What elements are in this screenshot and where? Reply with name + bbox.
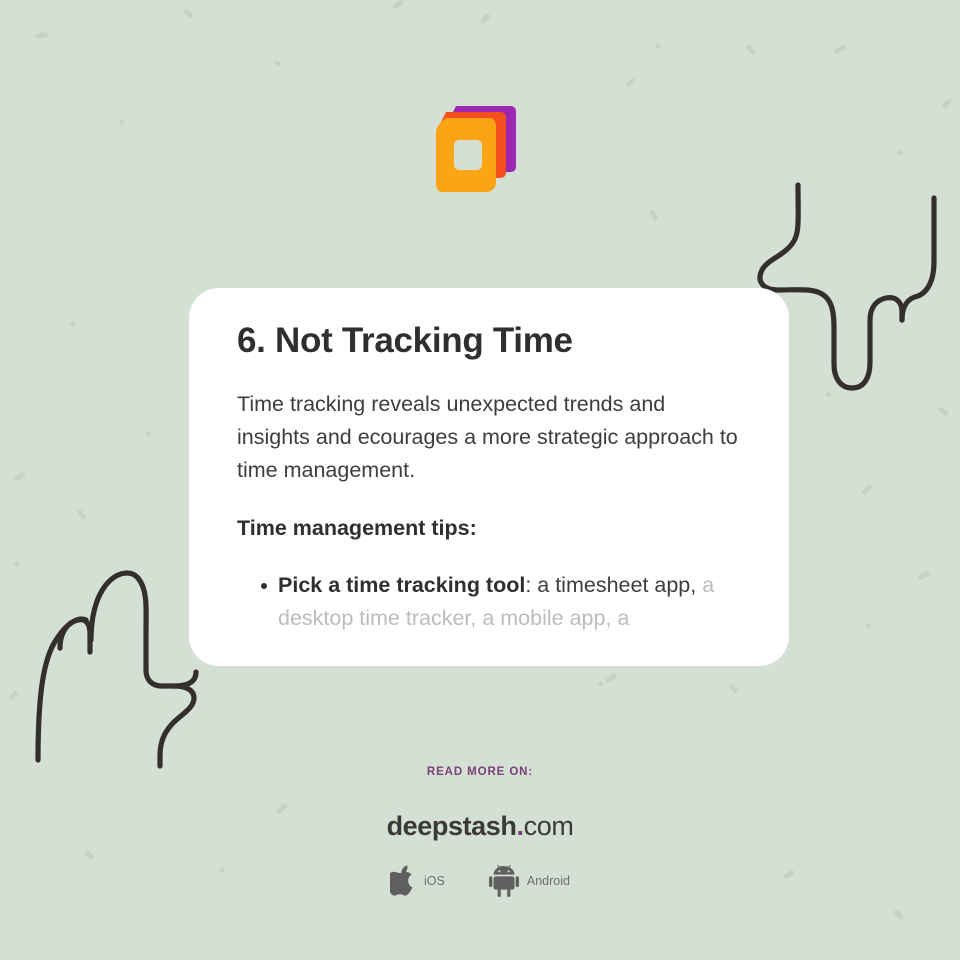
deepstash-wordmark[interactable]: deepstash.com [0, 811, 960, 842]
confetti-fleck [728, 683, 739, 695]
android-icon [489, 865, 519, 897]
confetti-fleck [861, 484, 873, 496]
android-store-label: Android [527, 874, 570, 888]
ios-store-badge[interactable]: iOS [390, 865, 445, 897]
confetti-fleck [35, 32, 49, 39]
confetti-fleck [866, 623, 871, 628]
app-store-badges: iOS Android [0, 865, 960, 897]
confetti-fleck [918, 570, 931, 580]
read-more-label: READ MORE ON: [0, 766, 960, 778]
deepstash-cube-logo [428, 102, 524, 198]
list-item: Pick a time tracking tool: a timesheet a… [278, 569, 741, 635]
confetti-fleck [392, 0, 405, 10]
ios-store-label: iOS [424, 874, 445, 888]
confetti-fleck [941, 98, 953, 109]
confetti-fleck [76, 509, 87, 521]
confetti-fleck [897, 150, 902, 155]
footer: READ MORE ON: deepstash.com iOS [0, 766, 960, 897]
card-body-text: Time tracking reveals unexpected trends … [237, 388, 741, 487]
confetti-fleck [14, 471, 27, 482]
apple-icon [390, 865, 416, 897]
tips-heading: Time management tips: [237, 512, 741, 545]
tips-list: Pick a time tracking tool: a timesheet a… [237, 569, 741, 635]
page-title: 6. Not Tracking Time [237, 321, 741, 362]
android-store-badge[interactable]: Android [489, 865, 570, 897]
tip-rest-text: : a timesheet app, [525, 573, 696, 597]
confetti-fleck [649, 209, 659, 222]
wordmark-brand: deepstash [387, 811, 517, 841]
confetti-fleck [938, 406, 950, 417]
confetti-fleck [655, 44, 660, 49]
confetti-fleck [893, 909, 904, 921]
confetti-fleck [146, 431, 151, 436]
wordmark-tld: com [524, 811, 574, 841]
confetti-fleck [834, 44, 847, 54]
tip-lead-label: Pick a time tracking tool [278, 573, 525, 597]
confetti-fleck [745, 44, 755, 56]
confetti-fleck [826, 392, 831, 397]
wordmark-dot: . [517, 811, 524, 841]
content-card: 6. Not Tracking Time Time tracking revea… [189, 288, 789, 666]
confetti-fleck [480, 13, 491, 25]
confetti-fleck [14, 562, 19, 567]
confetti-fleck [275, 61, 280, 66]
confetti-fleck [8, 690, 19, 702]
confetti-fleck [605, 673, 618, 684]
confetti-fleck [625, 77, 637, 88]
card-inner: 6. Not Tracking Time Time tracking revea… [189, 288, 789, 635]
confetti-fleck [70, 322, 75, 327]
confetti-fleck [598, 681, 603, 686]
confetti-fleck [183, 8, 195, 19]
poster-canvas: 6. Not Tracking Time Time tracking revea… [0, 0, 960, 960]
confetti-fleck [119, 120, 124, 125]
